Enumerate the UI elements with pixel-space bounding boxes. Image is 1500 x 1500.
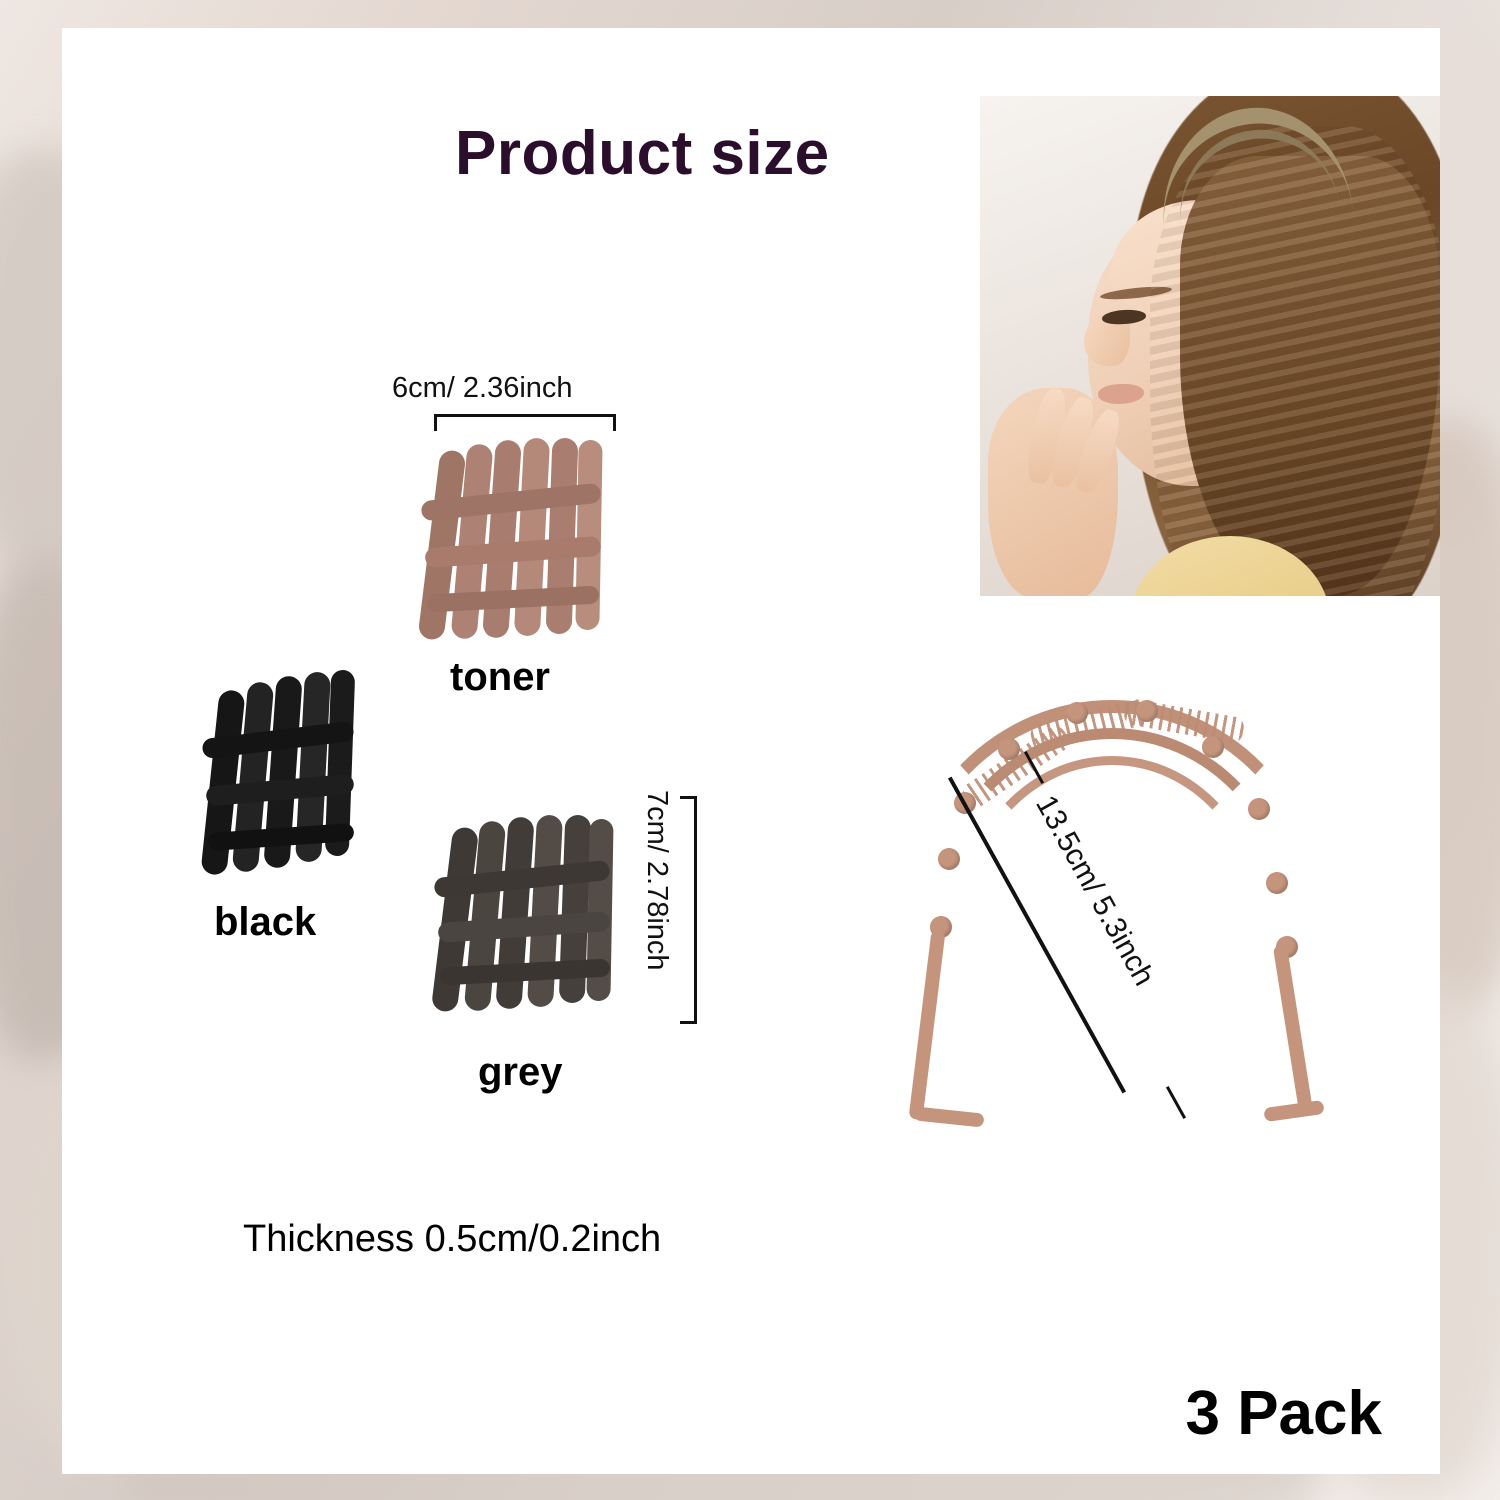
width-bracket bbox=[434, 414, 616, 431]
headband-knob bbox=[938, 848, 960, 870]
thickness-text: Thickness 0.5cm/0.2inch bbox=[243, 1218, 661, 1261]
color-label-toner: toner bbox=[450, 655, 550, 700]
clip-stack-toner bbox=[415, 430, 630, 645]
headband-leg-tip bbox=[913, 1106, 984, 1127]
page-title: Product size bbox=[455, 118, 830, 189]
product-size-infographic: Product size 6cm/ 2.36inch toner bbox=[0, 0, 1500, 1500]
clip-stack-grey bbox=[430, 805, 635, 1020]
headband-knob bbox=[1266, 872, 1288, 894]
headband-leg-tip bbox=[1263, 1100, 1324, 1122]
headband-knob bbox=[998, 738, 1020, 760]
headband-knob bbox=[1136, 700, 1158, 722]
height-bracket bbox=[680, 796, 697, 1024]
model-wearing-headband-photo bbox=[980, 96, 1440, 596]
clip-stack-black bbox=[200, 660, 380, 880]
pack-count-label: 3 Pack bbox=[1185, 1378, 1382, 1449]
headband-knob bbox=[1066, 702, 1088, 724]
color-label-black: black bbox=[214, 900, 316, 945]
headband-knob bbox=[1248, 798, 1270, 820]
headband-knob bbox=[1202, 736, 1224, 758]
height-dimension-label: 7cm/ 2.78inch bbox=[640, 790, 673, 971]
width-dimension-label: 6cm/ 2.36inch bbox=[392, 372, 573, 405]
color-label-grey: grey bbox=[478, 1050, 563, 1095]
